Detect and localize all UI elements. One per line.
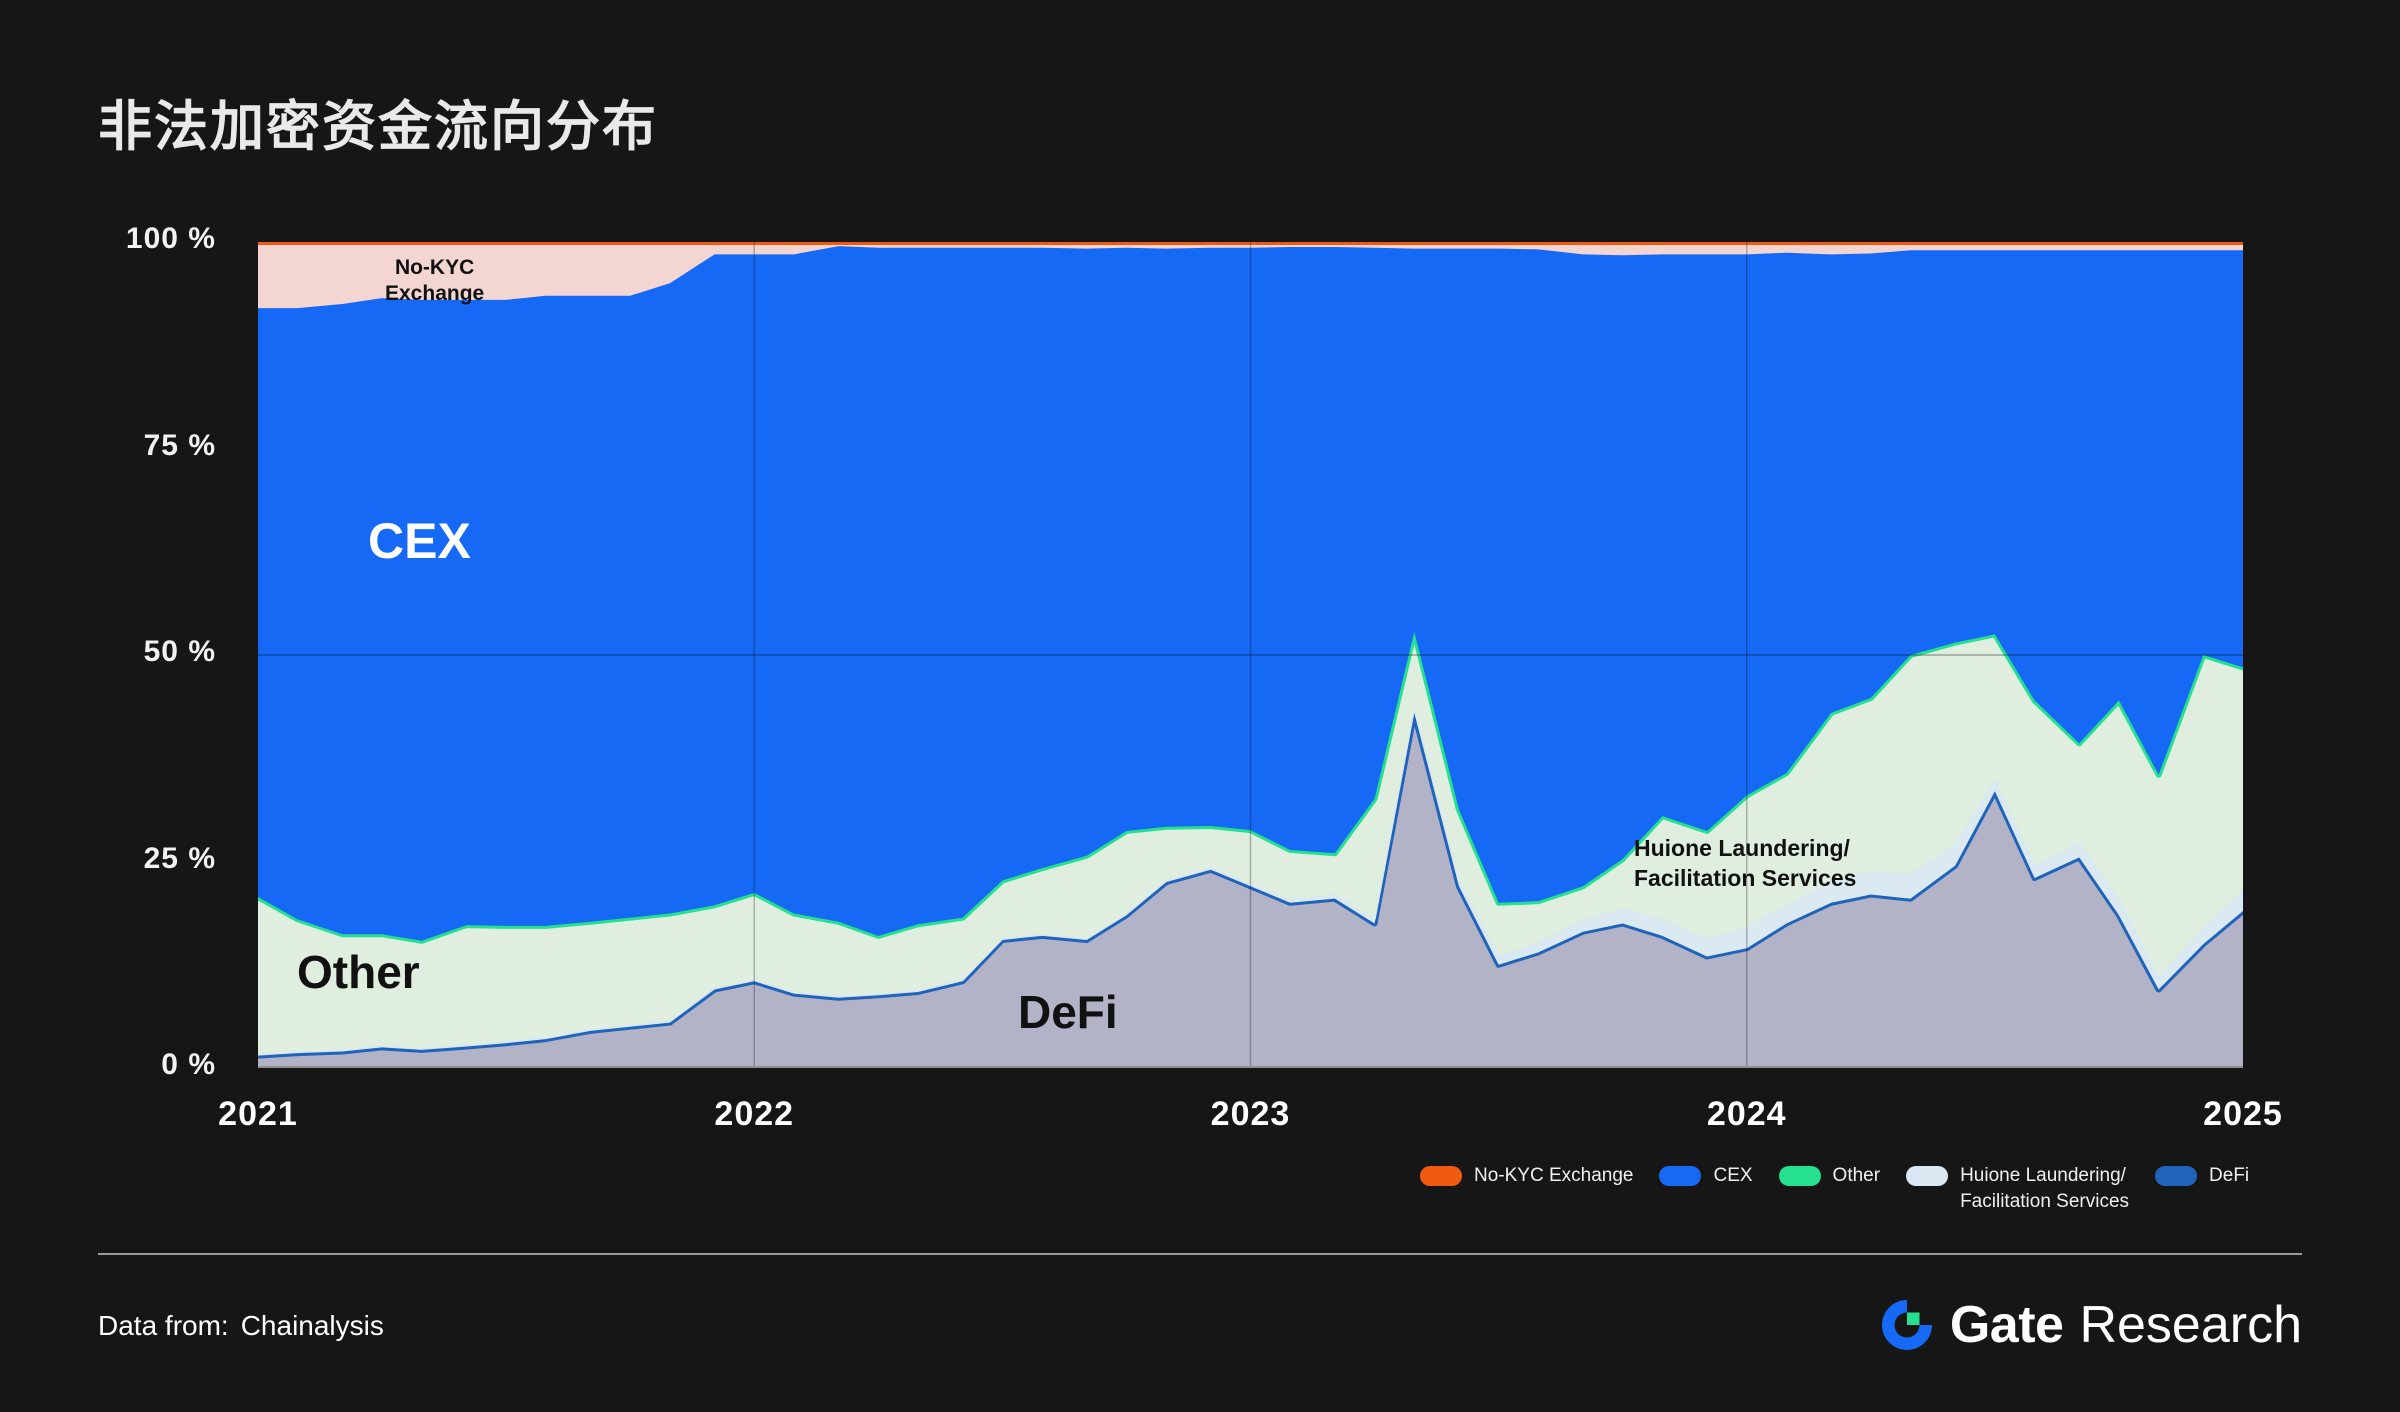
stacked-area-chart <box>258 242 2243 1068</box>
legend-label: Other <box>1833 1163 1881 1189</box>
x-axis-tick-2024: 2024 <box>1707 1095 1787 1134</box>
legend-item[interactable]: Other <box>1779 1163 1881 1189</box>
legend-label: Huione Laundering/ Facilitation Services <box>1960 1163 2129 1214</box>
legend-swatch-icon <box>1659 1166 1701 1186</box>
legend-swatch-icon <box>2155 1166 2197 1186</box>
legend-item[interactable]: CEX <box>1659 1163 1752 1189</box>
legend-label: DeFi <box>2209 1163 2249 1189</box>
legend-item[interactable]: DeFi <box>2155 1163 2249 1189</box>
data-source-value: Chainalysis <box>241 1310 384 1341</box>
data-source: Data from:Chainalysis <box>98 1310 384 1342</box>
x-axis-line <box>258 1066 2243 1068</box>
footer-divider <box>98 1253 2302 1255</box>
chart-plot-area <box>258 242 2243 1068</box>
y-axis-tick-25: 25 % <box>144 842 216 876</box>
y-axis-tick-100: 100 % <box>126 222 216 256</box>
x-axis-tick-2022: 2022 <box>714 1095 794 1134</box>
y-axis-tick-0: 0 % <box>161 1048 216 1082</box>
chart-legend: No-KYC ExchangeCEXOtherHuione Laundering… <box>1420 1163 2360 1225</box>
brand-secondary: Research <box>2079 1295 2302 1355</box>
brand-gate-research: Gate Research <box>1878 1295 2302 1355</box>
y-axis-tick-50: 50 % <box>144 635 216 669</box>
x-axis-tick-2025: 2025 <box>2203 1095 2283 1134</box>
legend-label: CEX <box>1713 1163 1752 1189</box>
legend-swatch-icon <box>1420 1166 1462 1186</box>
legend-swatch-icon <box>1779 1166 1821 1186</box>
data-source-label: Data from: <box>98 1310 229 1341</box>
chart-page: 非法加密资金流向分布 0 %25 %50 %75 %100 % No-KYC E… <box>0 0 2400 1412</box>
x-axis-tick-2021: 2021 <box>218 1095 298 1134</box>
y-axis-tick-75: 75 % <box>144 429 216 463</box>
x-axis-tick-2023: 2023 <box>1211 1095 1291 1134</box>
y-axis: 0 %25 %50 %75 %100 % <box>0 0 232 1412</box>
legend-item[interactable]: Huione Laundering/ Facilitation Services <box>1906 1163 2129 1214</box>
legend-label: No-KYC Exchange <box>1474 1163 1633 1189</box>
legend-item[interactable]: No-KYC Exchange <box>1420 1163 1633 1189</box>
legend-swatch-icon <box>1906 1166 1948 1186</box>
x-axis: 20212022202320242025 <box>0 1095 2400 1155</box>
brand-primary: Gate <box>1950 1295 2064 1355</box>
gate-logo-icon <box>1878 1296 1936 1354</box>
